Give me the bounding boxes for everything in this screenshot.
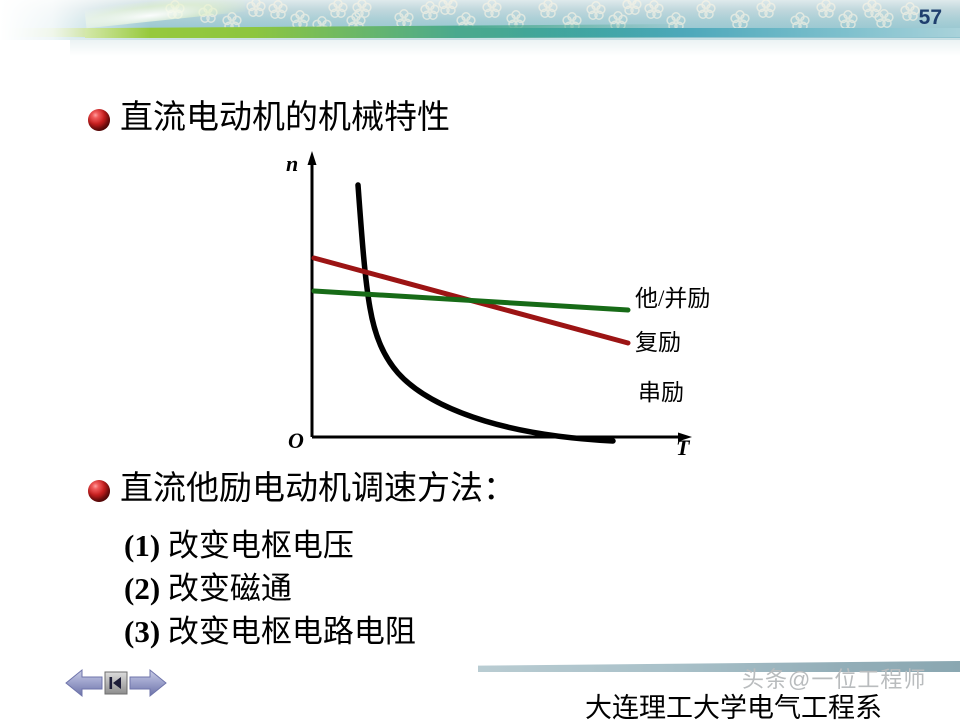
header-underglow	[70, 38, 960, 56]
red-sphere-bullet-icon	[88, 109, 110, 131]
legend-label-compound: 复励	[635, 323, 681, 357]
bullet-1-label: 直流电动机的机械特性	[120, 100, 450, 137]
y-axis-arrowhead	[308, 151, 317, 165]
sub-item-3-label: 改变电枢电路电阻	[168, 614, 416, 649]
mechanical-characteristic-chart: n O T 他/并励 复励 串励	[280, 145, 710, 470]
series-curve-shunt	[314, 291, 628, 310]
slide-header-banner	[0, 0, 960, 40]
x-axis-label: T	[676, 435, 689, 461]
origin-label: O	[288, 428, 304, 454]
y-axis-label: n	[286, 151, 298, 177]
next-slide-arrow-icon[interactable]	[130, 670, 166, 696]
sub-item-1: (1) 改变电枢电压	[124, 520, 354, 565]
sub-item-1-label: 改变电枢电压	[168, 528, 354, 563]
prev-slide-arrow-icon[interactable]	[66, 670, 102, 696]
series-curve-series-excited	[358, 185, 613, 441]
sub-item-2: (2) 改变磁通	[124, 563, 292, 608]
header-left-fade	[0, 0, 150, 40]
bullet-2-label: 直流他励电动机调速方法：	[120, 471, 516, 508]
legend-label-shunt: 他/并励	[635, 279, 710, 313]
sub-item-2-label: 改变磁通	[168, 571, 292, 606]
sub-item-3: (3) 改变电枢电路电阻	[124, 606, 416, 651]
page-number: 57	[919, 6, 942, 30]
red-sphere-bullet-icon	[88, 480, 110, 502]
watermark-text: 头条@一位工程师	[742, 662, 926, 694]
slide-navigation[interactable]	[64, 662, 174, 704]
sub-item-1-number: (1)	[124, 528, 160, 563]
bullet-item-2: 直流他励电动机调速方法：	[88, 471, 516, 508]
slide-canvas: 57 直流电动机的机械特性 n O T 他/并励 复励 串励	[0, 0, 960, 720]
legend-label-series-excited: 串励	[638, 373, 684, 407]
sub-item-2-number: (2)	[124, 571, 160, 606]
first-slide-button-icon[interactable]	[105, 672, 127, 694]
bullet-item-1: 直流电动机的机械特性	[88, 100, 450, 137]
sub-item-3-number: (3)	[124, 614, 160, 649]
